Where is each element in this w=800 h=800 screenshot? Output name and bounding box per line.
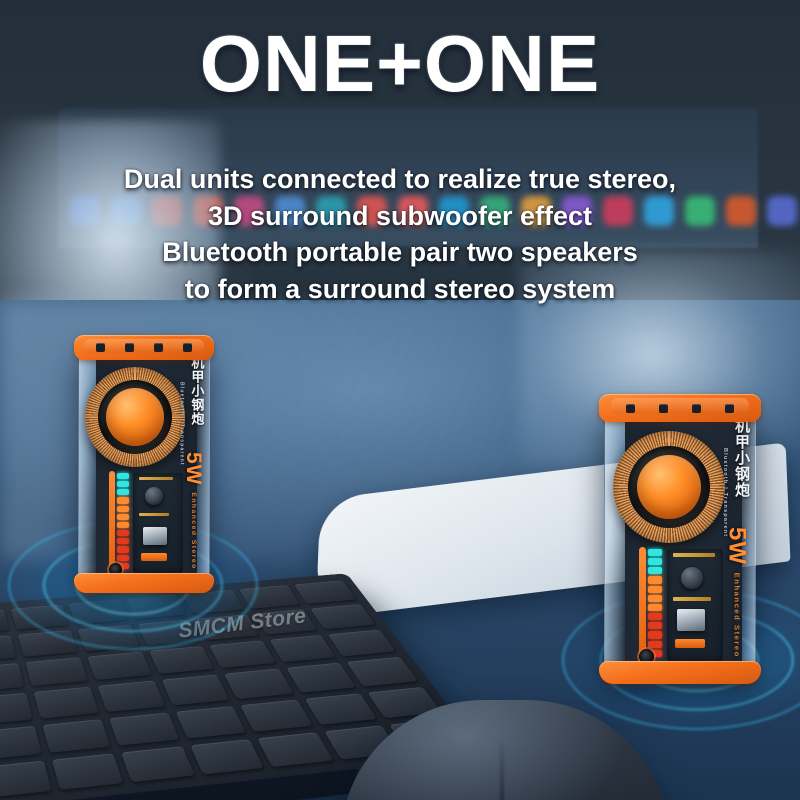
keyboard-key (162, 675, 230, 705)
right-speaker-driver (613, 431, 725, 543)
keyboard-key (0, 761, 51, 798)
subcopy-line-1: Dual units connected to realize true ste… (0, 163, 800, 196)
keyboard-key (328, 630, 396, 657)
vu-segment (648, 613, 662, 620)
subcopy-line-4: to form a surround stereo system (0, 273, 800, 306)
vu-segment (117, 497, 129, 503)
keyboard-key (0, 636, 16, 663)
keyboard-key (175, 706, 246, 739)
subcopy-line-2: 3D surround subwoofer effect (0, 200, 800, 233)
keyboard-key (109, 712, 179, 745)
keyboard-key (17, 630, 78, 657)
keyboard-key (87, 652, 151, 681)
keyboard-key (42, 719, 111, 753)
left-speaker-body: 机甲小钢炮 Bluetooth | Transparent 5W Enhance… (78, 340, 210, 588)
vu-segment (648, 641, 662, 648)
vu-segment (648, 586, 662, 593)
marketing-subcopy: Dual units connected to realize true ste… (0, 163, 800, 310)
vu-segment (117, 506, 129, 512)
vu-segment (648, 631, 662, 638)
right-power-value: 5W (724, 527, 751, 565)
left-speaker-top-cap (74, 335, 214, 360)
left-brand-cn: 机甲小钢炮 (187, 356, 206, 426)
right-top-bolts (599, 394, 760, 422)
keyboard-key (347, 657, 418, 686)
keyboard-key (190, 739, 264, 774)
right-orange-component (675, 639, 705, 648)
keyboard-key (25, 658, 88, 687)
right-brand-cn: 机甲小钢炮 (731, 418, 752, 498)
right-transformer (677, 609, 705, 631)
right-power-sub: Enhanced Stereo (733, 573, 742, 658)
vu-segment (648, 567, 662, 574)
keyboard-key (239, 585, 301, 609)
keyboard-key (0, 693, 32, 725)
left-driver-cone (106, 388, 164, 446)
right-vu-meter (648, 549, 662, 657)
keyboard-key (183, 590, 244, 614)
left-solder-pads-top (139, 477, 173, 480)
left-top-bolts (74, 335, 214, 360)
right-solder-pads-mid (673, 597, 711, 601)
left-power-value: 5W (182, 452, 205, 486)
vu-segment (648, 604, 662, 611)
vu-segment (117, 546, 129, 552)
keyboard-key (254, 609, 318, 635)
subcopy-line-3: Bluetooth portable pair two speakers (0, 236, 800, 269)
right-speaker-body: 机甲小钢炮 Bluetooth | Transparent 5W Enhance… (604, 400, 756, 678)
keyboard-key (210, 641, 276, 669)
right-solder-pads-top (673, 553, 715, 557)
left-power-label: 5W Enhanced Stereo (181, 452, 205, 570)
keyboard-key (224, 669, 293, 699)
keyboard-key (196, 614, 259, 640)
vu-segment (117, 481, 129, 487)
keyboard-key (269, 635, 336, 662)
keyboard-key (240, 699, 312, 731)
page-title: ONE+ONE (0, 24, 800, 104)
vu-segment (648, 595, 662, 602)
left-orange-component (141, 553, 167, 561)
right-capacitor (681, 567, 703, 589)
keyboard-key (149, 646, 214, 674)
right-speaker[interactable]: 机甲小钢炮 Bluetooth | Transparent 5W Enhance… (604, 400, 756, 678)
right-speaker-glass-left (605, 401, 625, 677)
keyboard-key (69, 600, 128, 625)
keyboard-key (137, 620, 200, 646)
keyboard-key (294, 580, 357, 603)
keyboard-key (0, 726, 41, 760)
vu-segment (117, 489, 129, 495)
left-speaker[interactable]: 机甲小钢炮 Bluetooth | Transparent 5W Enhance… (78, 340, 210, 588)
keyboard-key (126, 595, 186, 619)
keyboard-key (0, 610, 9, 636)
keyboard-key (258, 732, 333, 767)
right-speaker-bottom-cap (599, 661, 760, 683)
vu-segment (117, 473, 129, 479)
vu-segment (117, 522, 129, 528)
keyboard-key (121, 746, 194, 782)
vu-segment (117, 555, 129, 561)
keyboard-key (78, 625, 140, 652)
keyboard-key (286, 663, 356, 692)
vu-segment (117, 538, 129, 544)
left-speaker-bottom-cap (74, 573, 214, 593)
keyboard-key (98, 681, 165, 712)
product-promo-image: SMCM Store (0, 0, 800, 800)
left-power-sub: Enhanced Stereo (190, 492, 197, 569)
left-capacitor (145, 487, 163, 505)
keyboard-key (10, 605, 69, 630)
left-speaker-driver (85, 367, 185, 467)
left-vu-rail (109, 471, 115, 575)
left-vu-meter (117, 473, 129, 569)
vu-segment (648, 558, 662, 565)
vu-segment (648, 549, 662, 556)
right-power-label: 5W Enhanced Stereo (723, 527, 751, 658)
left-solder-pads-mid (139, 513, 169, 516)
keyboard-key (0, 663, 24, 692)
keyboard-key (33, 687, 99, 718)
vu-segment (648, 576, 662, 583)
keyboard-key (311, 604, 376, 629)
left-transformer (143, 527, 167, 545)
left-speaker-glass-left (79, 341, 96, 587)
vu-segment (117, 514, 129, 520)
keyboard-key (51, 753, 123, 790)
right-vu-rail (639, 547, 646, 663)
right-speaker-top-cap (599, 394, 760, 422)
mouse-seam (500, 738, 504, 800)
vu-segment (117, 530, 129, 536)
vu-segment (648, 622, 662, 629)
keyboard-key (304, 693, 377, 725)
right-brand-en: Bluetooth | Transparent (722, 448, 728, 537)
